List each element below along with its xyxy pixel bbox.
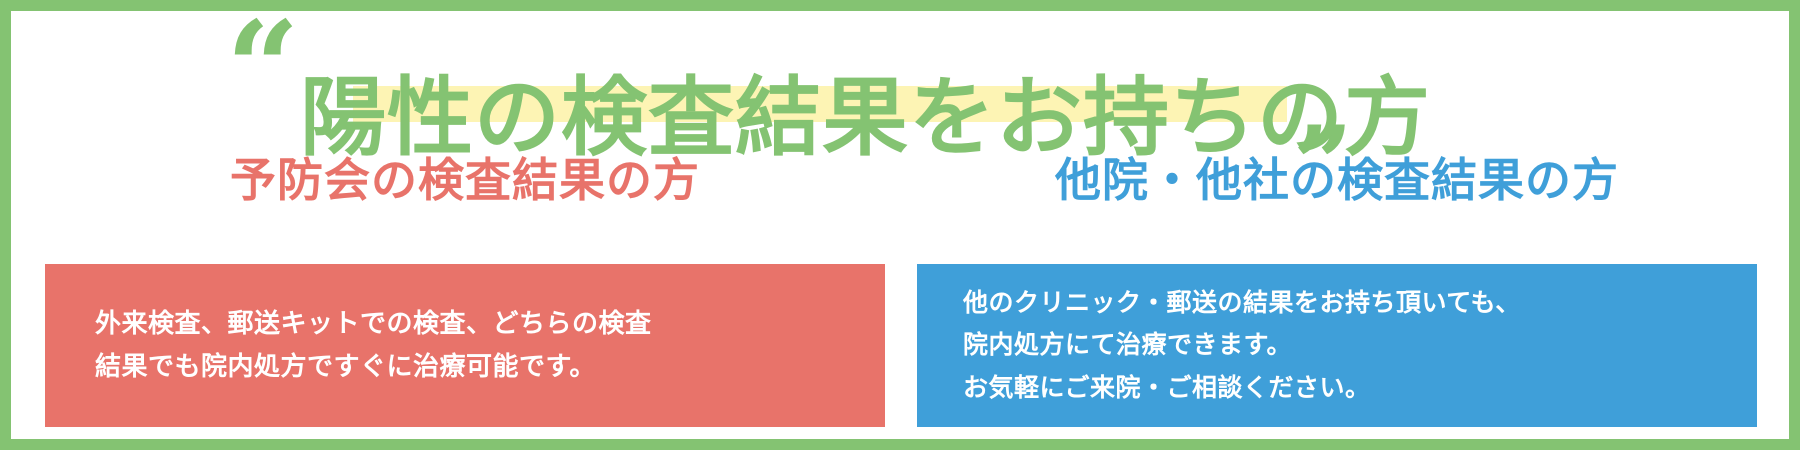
right-info-panel: 他のクリニック・郵送の結果をお持ち頂いても、 院内処方にて治療できます。 お気軽… xyxy=(917,264,1757,427)
left-panel-line-2: 結果でも院内処方ですぐに治療可能です。 xyxy=(95,346,885,388)
right-column-heading: 他院・他社の検査結果の方 xyxy=(917,148,1757,207)
column-other-clinic: 他院・他社の検査結果の方 他のクリニック・郵送の結果をお持ち頂いても、 院内処方… xyxy=(917,148,1757,438)
column-yoboukai: 予防会の検査結果の方 外来検査、郵送キットでの検査、どちらの検査 結果でも院内処… xyxy=(45,148,885,438)
title-area: “ “ 陽性の検査結果をお持ちの方 xyxy=(0,0,1800,148)
quote-open-icon: “ xyxy=(226,18,294,120)
promo-banner: “ “ 陽性の検査結果をお持ちの方 予防会の検査結果の方 外来検査、郵送キットで… xyxy=(0,0,1800,450)
right-panel-line-3: お気軽にご来院・ご相談ください。 xyxy=(963,367,1757,410)
left-info-panel: 外来検査、郵送キットでの検査、どちらの検査 結果でも院内処方ですぐに治療可能です… xyxy=(45,264,885,427)
left-column-heading: 予防会の検査結果の方 xyxy=(45,148,885,207)
right-panel-line-2: 院内処方にて治療できます。 xyxy=(963,324,1757,367)
right-panel-line-1: 他のクリニック・郵送の結果をお持ち頂いても、 xyxy=(963,282,1757,325)
left-panel-line-1: 外来検査、郵送キットでの検査、どちらの検査 xyxy=(95,303,885,345)
